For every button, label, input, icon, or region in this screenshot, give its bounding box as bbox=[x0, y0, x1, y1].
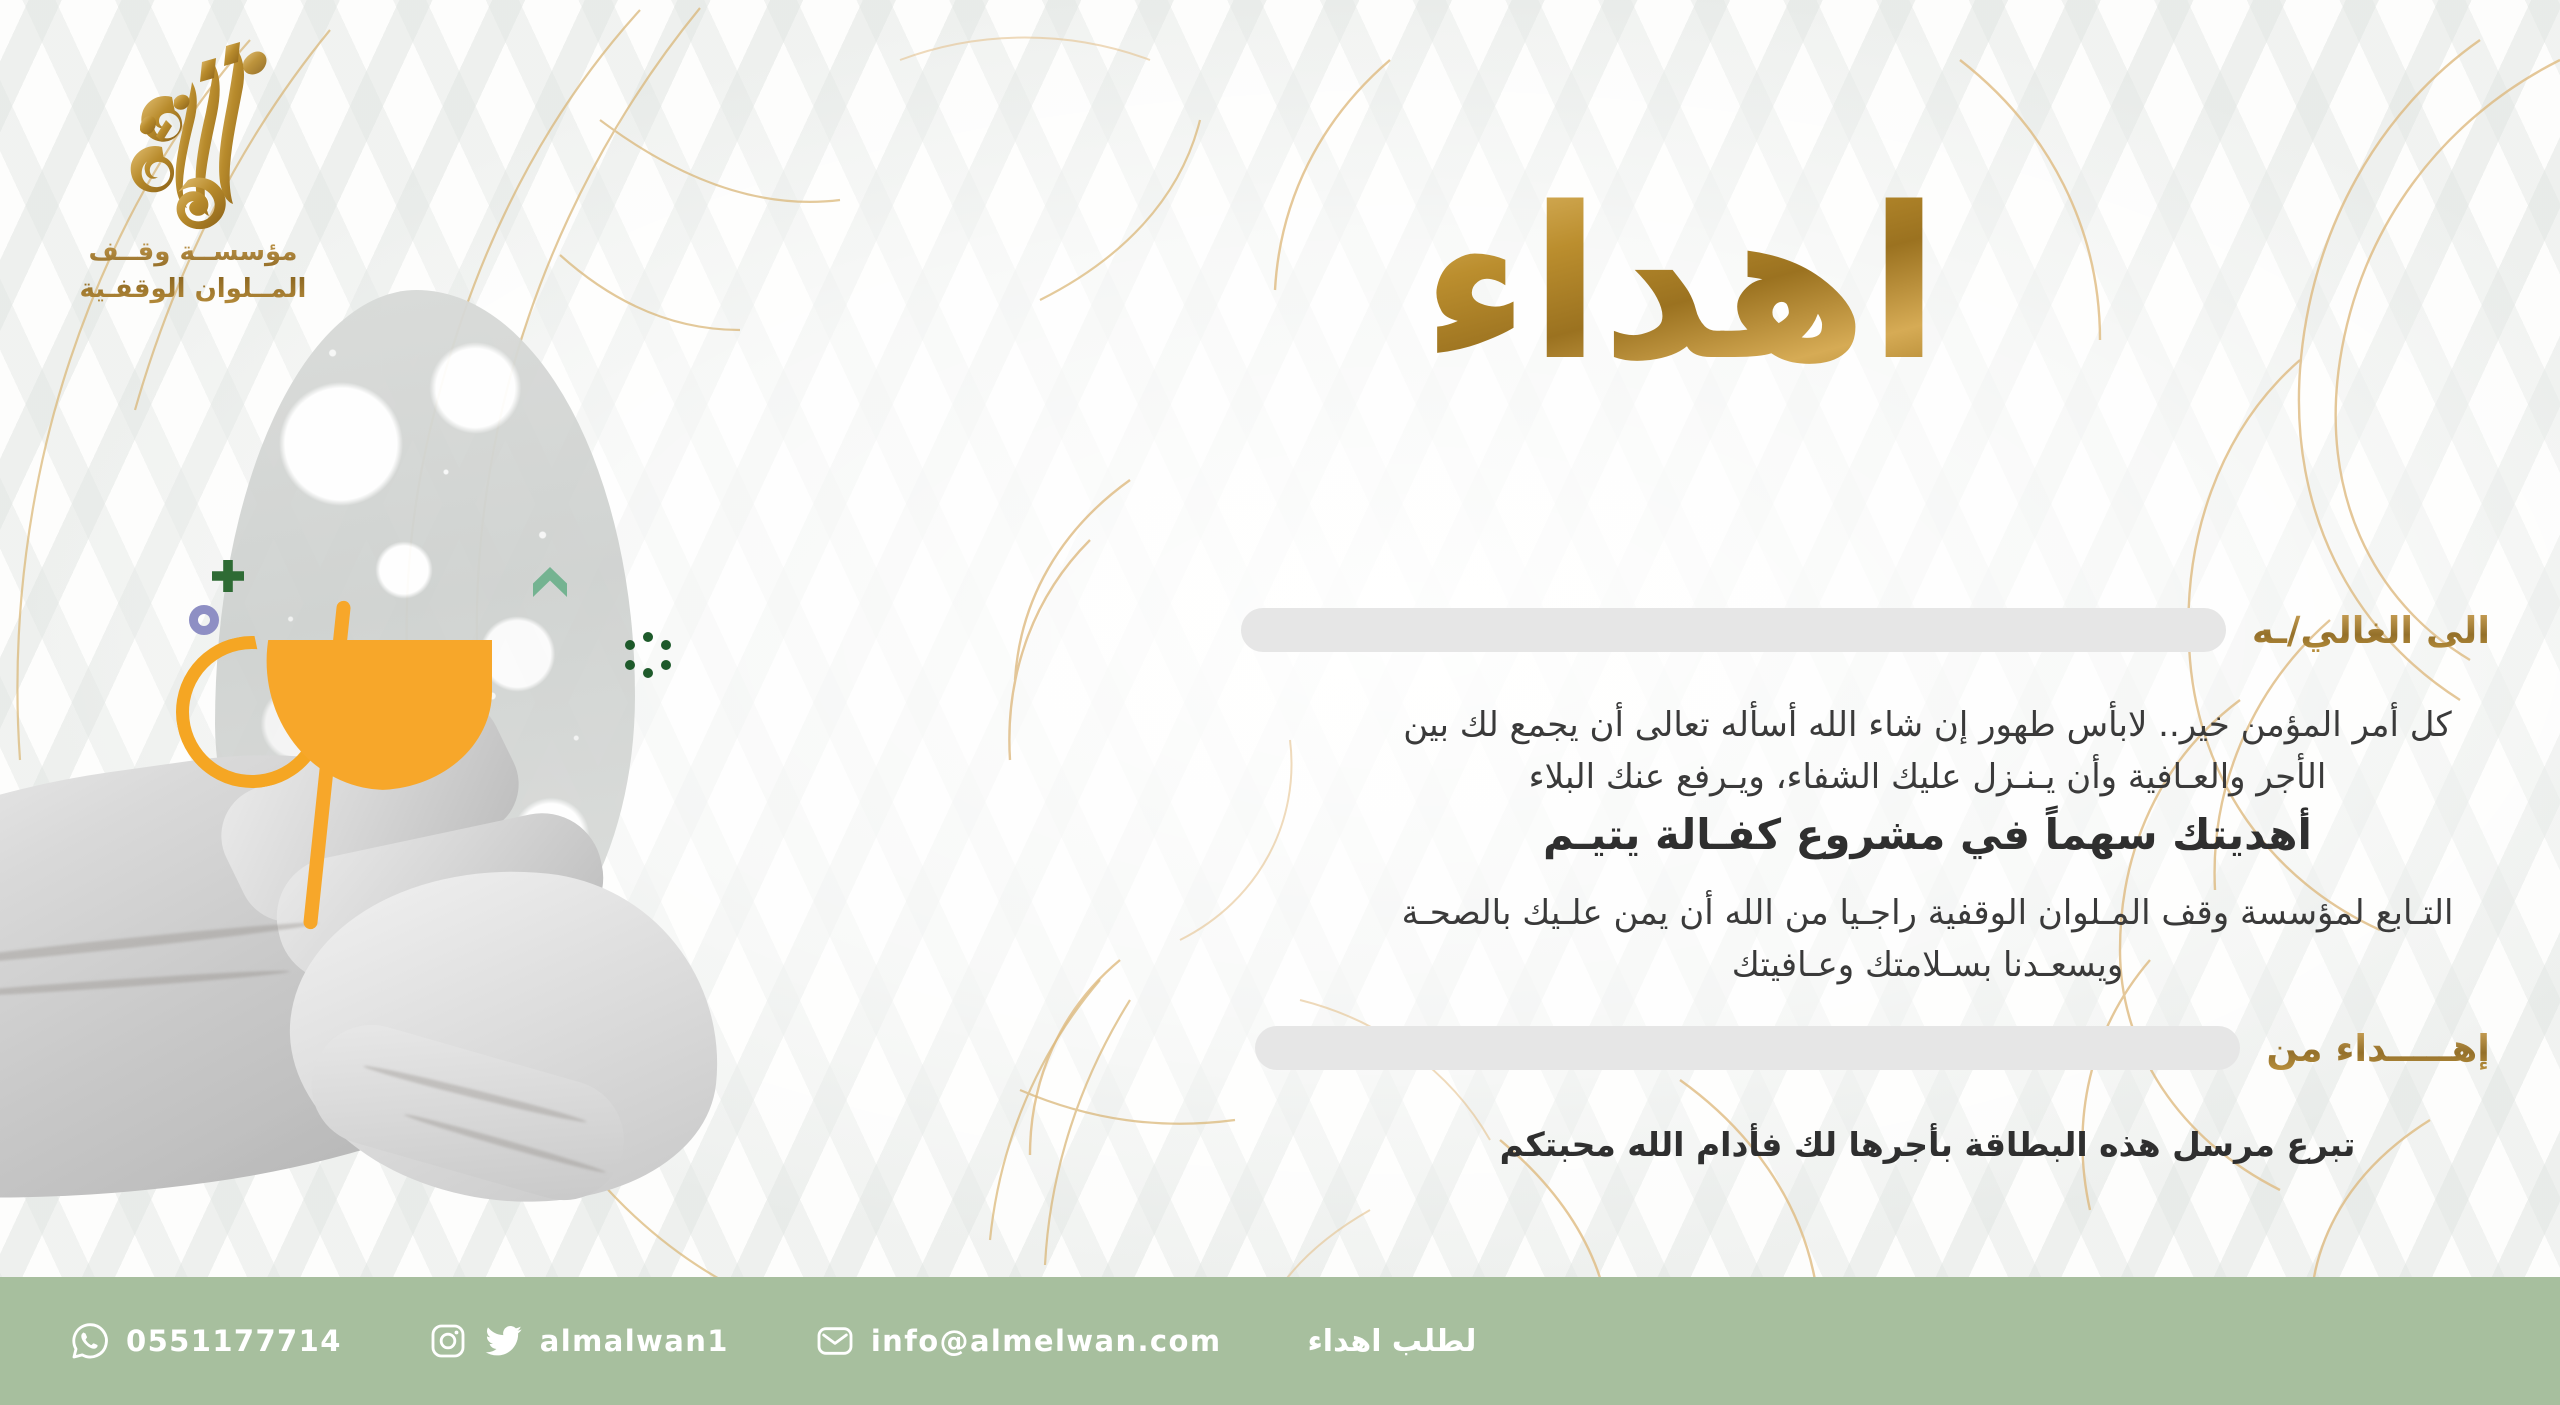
social-handle: almalwan1 bbox=[540, 1324, 729, 1358]
from-field-label: إهـــــداء من bbox=[2266, 1027, 2490, 1070]
email-contact[interactable]: info@almelwan.com bbox=[815, 1321, 1222, 1361]
highlight-line: أهديتك سهماً في مشروع كفـالة يتيـم bbox=[1365, 808, 2490, 863]
green-chevron-icon bbox=[533, 567, 567, 597]
finger-1 bbox=[204, 681, 535, 938]
purple-ring-dot bbox=[189, 605, 219, 635]
whatsapp-number: 0551177714 bbox=[126, 1324, 342, 1358]
order-ihdaa-label: لطلب اهداء bbox=[1307, 1324, 1476, 1359]
to-field-row: الى الغالي/ـه bbox=[1241, 608, 2490, 652]
orange-crescent-shape bbox=[262, 640, 492, 790]
green-plus-icon bbox=[212, 560, 244, 592]
adult-palm bbox=[0, 708, 625, 1252]
palm-crease bbox=[362, 1062, 587, 1125]
palm-crease bbox=[0, 918, 319, 972]
email-address: info@almelwan.com bbox=[871, 1324, 1222, 1358]
palm-crease bbox=[403, 1111, 607, 1176]
orange-arc-shape bbox=[162, 622, 342, 802]
card-content: اهداء الى الغالي/ـه كل أمر المؤمن خير.. … bbox=[1000, 0, 2560, 1277]
from-field-row: إهـــــداء من bbox=[1255, 1026, 2490, 1070]
sender-name-input[interactable] bbox=[1255, 1026, 2240, 1070]
body-paragraph-1: كل أمر المؤمن خير.. لابأس طهور إن شاء ال… bbox=[1365, 700, 2490, 803]
body-paragraph-2: التـابع لمؤسسة وقف المـلوان الوقفية راجـ… bbox=[1365, 888, 2490, 991]
logo-line-2: المــلوان الوقفـية bbox=[58, 271, 328, 308]
whatsapp-contact[interactable]: 0551177714 bbox=[70, 1321, 342, 1361]
ihdaa-donation-card: مؤسســة وقــف المــلوان الوقفـية اهداء ا… bbox=[0, 0, 2560, 1405]
recipient-name-input[interactable] bbox=[1241, 608, 2226, 652]
social-contact[interactable]: almalwan1 bbox=[428, 1321, 729, 1361]
palm-crease bbox=[0, 967, 290, 1000]
contact-footer: 0551177714 almalwan1 info@almelwan.com ل… bbox=[0, 1277, 2560, 1405]
email-icon bbox=[815, 1321, 855, 1361]
instagram-icon bbox=[428, 1321, 468, 1361]
hands-photo bbox=[0, 620, 1000, 1277]
logo-line-1: مؤسســة وقــف bbox=[58, 234, 328, 271]
organization-logo: مؤسســة وقــف المــلوان الوقفـية bbox=[58, 40, 328, 308]
logo-text: مؤسســة وقــف المــلوان الوقفـية bbox=[58, 234, 328, 308]
page-title: اهداء bbox=[1422, 180, 1940, 390]
twitter-icon bbox=[484, 1321, 524, 1361]
orange-brush-stroke bbox=[303, 600, 351, 930]
arabic-calligraphy-logo-icon bbox=[118, 40, 268, 230]
closing-text: تبرع مرسل هذه البطاقة بأجرها لك فأدام ال… bbox=[1365, 1122, 2490, 1168]
green-dotted-circle-icon bbox=[625, 632, 671, 678]
child-hand bbox=[274, 848, 736, 1221]
to-field-label: الى الغالي/ـه bbox=[2252, 609, 2490, 652]
finger-2 bbox=[266, 802, 615, 993]
texture-blob bbox=[215, 290, 635, 990]
whatsapp-icon bbox=[70, 1321, 110, 1361]
